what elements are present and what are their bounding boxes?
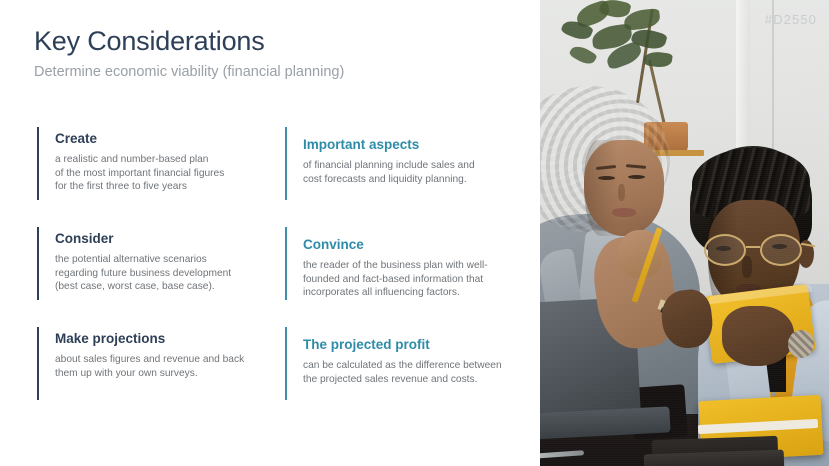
block-body: the potential alternative scenarios rega… bbox=[55, 253, 263, 294]
considerations-row-2: Consider the potential alternative scena… bbox=[0, 218, 540, 318]
body-line: a realistic and number-based plan bbox=[55, 153, 263, 167]
person-left-eye bbox=[598, 176, 615, 180]
block-body: of financial planning include sales and … bbox=[303, 159, 517, 186]
consideration-block-the-projected-profit: The projected profit can be calculated a… bbox=[285, 318, 517, 386]
consideration-block-consider: Consider the potential alternative scena… bbox=[37, 218, 263, 294]
person-right-hand bbox=[722, 306, 794, 366]
person-left-face-shadow bbox=[584, 140, 618, 236]
glasses-bridge bbox=[746, 246, 760, 248]
page-subtitle: Determine economic viability (financial … bbox=[34, 64, 344, 80]
accent-rule bbox=[37, 227, 39, 300]
block-heading: Make projections bbox=[55, 331, 263, 346]
consideration-block-make-projections: Make projections about sales figures and… bbox=[37, 318, 263, 380]
page-title: Key Considerations bbox=[34, 26, 265, 57]
glasses-lens bbox=[704, 234, 746, 266]
body-line: of the most important financial figures bbox=[55, 167, 263, 181]
consideration-block-important-aspects: Important aspects of financial planning … bbox=[285, 118, 517, 186]
consideration-block-create: Create a realistic and number-based plan… bbox=[37, 118, 263, 194]
body-line: the potential alternative scenarios bbox=[55, 253, 263, 267]
block-body: a realistic and number-based plan of the… bbox=[55, 153, 263, 194]
block-body: can be calculated as the difference betw… bbox=[303, 359, 517, 386]
body-line: can be calculated as the difference betw… bbox=[303, 359, 517, 373]
body-line: the reader of the business plan with wel… bbox=[303, 259, 517, 273]
body-line: incorporates all influencing factors. bbox=[303, 286, 517, 300]
accent-rule bbox=[285, 227, 287, 300]
person-left-lips bbox=[612, 208, 636, 217]
glasses-lens bbox=[760, 234, 802, 266]
body-line: about sales figures and revenue and back bbox=[55, 353, 263, 367]
considerations-row-1: Create a realistic and number-based plan… bbox=[0, 118, 540, 218]
block-body: about sales figures and revenue and back… bbox=[55, 353, 263, 380]
body-line: founded and fact-based information that bbox=[303, 273, 517, 287]
body-line: the projected sales revenue and costs. bbox=[303, 373, 517, 387]
considerations-grid: Create a realistic and number-based plan… bbox=[0, 118, 540, 418]
body-line: for the first three to five years bbox=[55, 180, 263, 194]
body-line: cost forecasts and liquidity planning. bbox=[303, 173, 517, 187]
block-heading: Create bbox=[55, 131, 263, 146]
body-line: (best case, worst case, base case). bbox=[55, 280, 263, 294]
slide-content: Key Considerations Determine economic vi… bbox=[0, 0, 540, 466]
accent-rule bbox=[37, 127, 39, 200]
reference-code: #D2550 bbox=[765, 12, 817, 27]
block-heading: Consider bbox=[55, 231, 263, 246]
slide: Key Considerations Determine economic vi… bbox=[0, 0, 829, 466]
photo-panel: #D2550 bbox=[540, 0, 829, 466]
person-left-nose bbox=[618, 184, 625, 201]
person-left-eye bbox=[628, 175, 645, 179]
block-body: the reader of the business plan with wel… bbox=[303, 259, 517, 300]
accent-rule bbox=[285, 327, 287, 400]
block-heading: Convince bbox=[303, 237, 517, 252]
considerations-row-3: Make projections about sales figures and… bbox=[0, 318, 540, 418]
consideration-block-convince: Convince the reader of the business plan… bbox=[285, 218, 517, 300]
body-line: them up with your own surveys. bbox=[55, 367, 263, 381]
accent-rule bbox=[285, 127, 287, 200]
person-right-glasses bbox=[702, 234, 812, 268]
accent-rule bbox=[37, 327, 39, 400]
jacket-button bbox=[772, 392, 776, 396]
body-line: of financial planning include sales and bbox=[303, 159, 517, 173]
block-heading: Important aspects bbox=[303, 137, 517, 152]
body-line: regarding future business development bbox=[55, 267, 263, 281]
block-heading: The projected profit bbox=[303, 337, 517, 352]
bracelet bbox=[788, 330, 814, 358]
